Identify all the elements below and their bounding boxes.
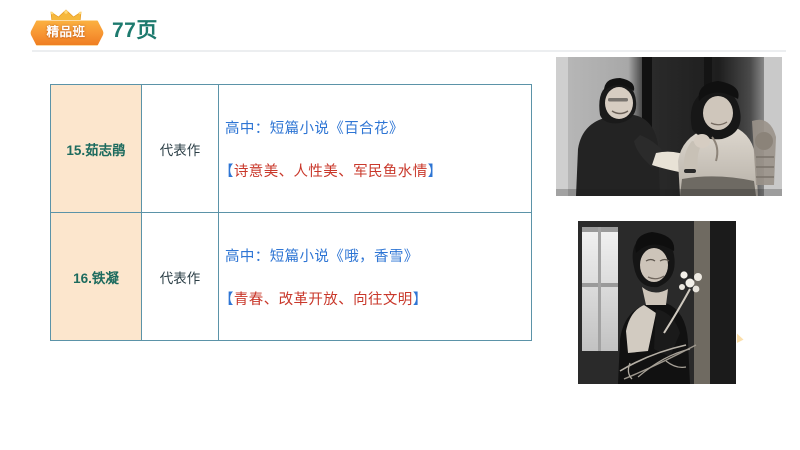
tag-text: 诗意美、人性美、军民鱼水情 bbox=[234, 164, 428, 180]
kind-cell: 代表作 bbox=[142, 85, 219, 213]
tag-bracket-close: 】 bbox=[428, 164, 443, 180]
theme-tags: 【青春、改革开放、向往文明】 bbox=[219, 288, 531, 309]
brand-badge: 精品班 bbox=[28, 9, 104, 45]
works-cell: 高中：短篇小说《百合花》 【诗意美、人性美、军民鱼水情】 bbox=[219, 85, 532, 213]
slide-header: 精品班 77页 bbox=[0, 0, 800, 52]
photo-young-woman-window bbox=[578, 221, 736, 384]
tag-text: 青春、改革开放、向往文明 bbox=[234, 292, 413, 308]
photo-two-women-seated bbox=[556, 57, 782, 196]
table-row: 16.铁凝 代表作 高中：短篇小说《哦，香雪》 【青春、改革开放、向往文明】 bbox=[51, 213, 532, 341]
tag-bracket-open: 【 bbox=[219, 164, 234, 180]
work-title: 高中：短篇小说《哦，香雪》 bbox=[225, 245, 531, 266]
tag-bracket-close: 】 bbox=[413, 292, 428, 308]
works-cell: 高中：短篇小说《哦，香雪》 【青春、改革开放、向往文明】 bbox=[219, 213, 532, 341]
tag-bracket-open: 【 bbox=[219, 292, 234, 308]
author-cell: 16.铁凝 bbox=[51, 213, 142, 341]
author-works-table: 15.茹志鹃 代表作 高中：短篇小说《百合花》 【诗意美、人性美、军民鱼水情】 … bbox=[50, 84, 532, 341]
work-title: 高中：短篇小说《百合花》 bbox=[225, 117, 531, 138]
page-title: 77页 bbox=[112, 14, 158, 44]
theme-tags: 【诗意美、人性美、军民鱼水情】 bbox=[219, 160, 531, 181]
badge-label: 精品班 bbox=[30, 20, 102, 44]
header-divider bbox=[32, 50, 786, 52]
table-row: 15.茹志鹃 代表作 高中：短篇小说《百合花》 【诗意美、人性美、军民鱼水情】 bbox=[51, 85, 532, 213]
author-cell: 15.茹志鹃 bbox=[51, 85, 142, 213]
kind-cell: 代表作 bbox=[142, 213, 219, 341]
